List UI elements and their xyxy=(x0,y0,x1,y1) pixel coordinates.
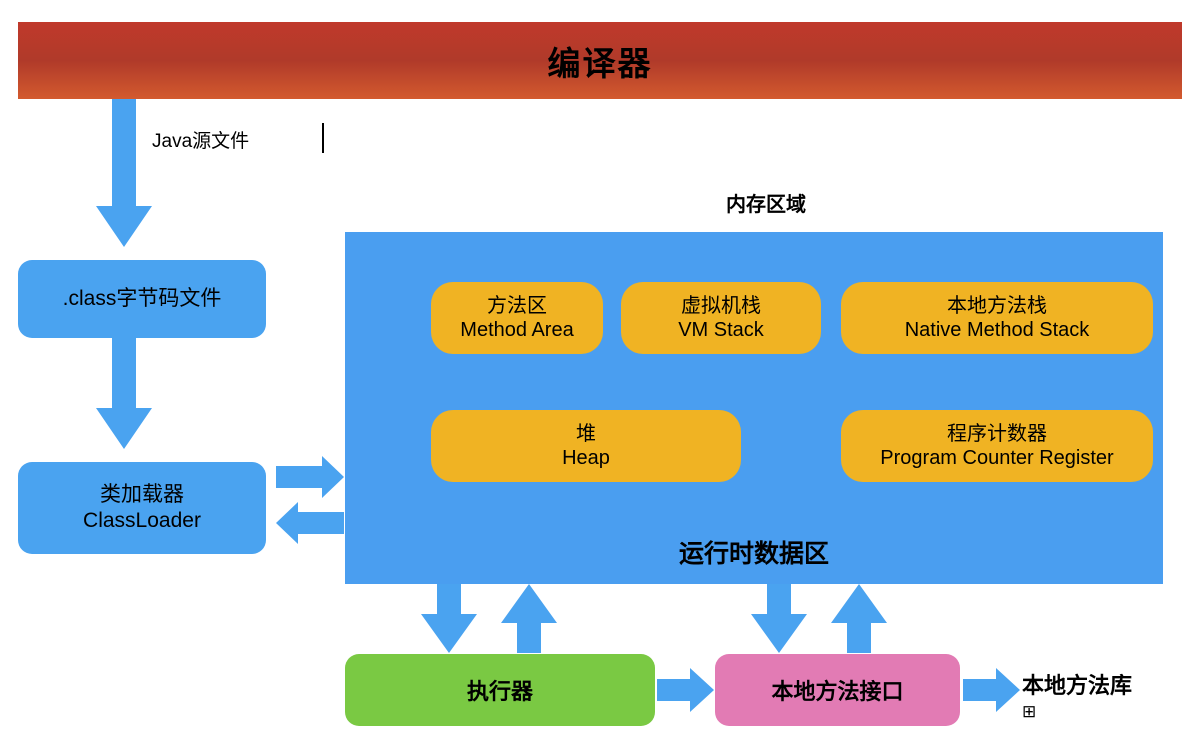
runtime-area-vm-stack[interactable]: 虚拟机栈 VM Stack xyxy=(621,282,821,354)
native-method-stack-label-cn: 本地方法栈 xyxy=(947,294,1047,318)
native-library-plus-icon: ⊞ xyxy=(1022,702,1182,722)
executor-label: 执行器 xyxy=(467,674,533,706)
compiler-banner: 编译器 xyxy=(18,22,1182,99)
runtime-area-native-method-stack[interactable]: 本地方法栈 Native Method Stack xyxy=(841,282,1153,354)
runtime-area-heap[interactable]: 堆 Heap xyxy=(431,410,741,482)
native-interface-label: 本地方法接口 xyxy=(771,674,903,706)
native-method-stack-label-en: Native Method Stack xyxy=(905,318,1090,342)
native-interface-box[interactable]: 本地方法接口 xyxy=(715,654,960,726)
diagram-canvas: 编译器 Java源文件 .clas xyxy=(0,0,1200,743)
memory-area-title: 内存区域 xyxy=(666,188,866,217)
program-counter-label-cn: 程序计数器 xyxy=(947,422,1047,446)
compiler-banner-label: 编译器 xyxy=(548,37,653,85)
arrow-classloader-to-memory xyxy=(276,456,344,498)
arrow-classfile-to-classloader xyxy=(96,338,152,449)
arrow-native-interface-to-memory xyxy=(831,584,887,653)
method-area-label-en: Method Area xyxy=(460,318,573,342)
vm-stack-label-cn: 虚拟机栈 xyxy=(681,294,761,318)
native-library-label: 本地方法库 xyxy=(1022,673,1132,698)
arrow-executor-to-memory xyxy=(501,584,557,653)
heap-label-en: Heap xyxy=(562,446,610,470)
memory-region: 方法区 Method Area 虚拟机栈 VM Stack 本地方法栈 Nati… xyxy=(345,232,1163,584)
class-loader-box[interactable]: 类加载器 ClassLoader xyxy=(18,462,266,554)
executor-box[interactable]: 执行器 xyxy=(345,654,655,726)
class-file-label: .class字节码文件 xyxy=(63,286,222,312)
heap-label-cn: 堆 xyxy=(576,422,596,446)
method-area-label-cn: 方法区 xyxy=(487,294,547,318)
native-library-label-group: 本地方法库 ⊞ xyxy=(1022,668,1182,722)
runtime-data-area-label: 运行时数据区 xyxy=(345,534,1163,570)
arrow-compiler-to-classfile xyxy=(96,99,152,247)
java-source-label: Java源文件 xyxy=(152,126,249,153)
text-caret xyxy=(322,123,324,153)
class-loader-label-cn: 类加载器 xyxy=(100,482,184,508)
runtime-area-method-area[interactable]: 方法区 Method Area xyxy=(431,282,603,354)
arrow-memory-to-classloader xyxy=(276,502,344,544)
arrow-native-interface-to-library xyxy=(963,668,1020,712)
arrow-executor-to-native-interface xyxy=(657,668,714,712)
arrow-memory-to-executor xyxy=(421,584,477,653)
arrow-memory-to-native-interface xyxy=(751,584,807,653)
class-file-box[interactable]: .class字节码文件 xyxy=(18,260,266,338)
runtime-area-program-counter[interactable]: 程序计数器 Program Counter Register xyxy=(841,410,1153,482)
vm-stack-label-en: VM Stack xyxy=(678,318,764,342)
class-loader-label-en: ClassLoader xyxy=(83,508,201,534)
program-counter-label-en: Program Counter Register xyxy=(880,446,1113,470)
